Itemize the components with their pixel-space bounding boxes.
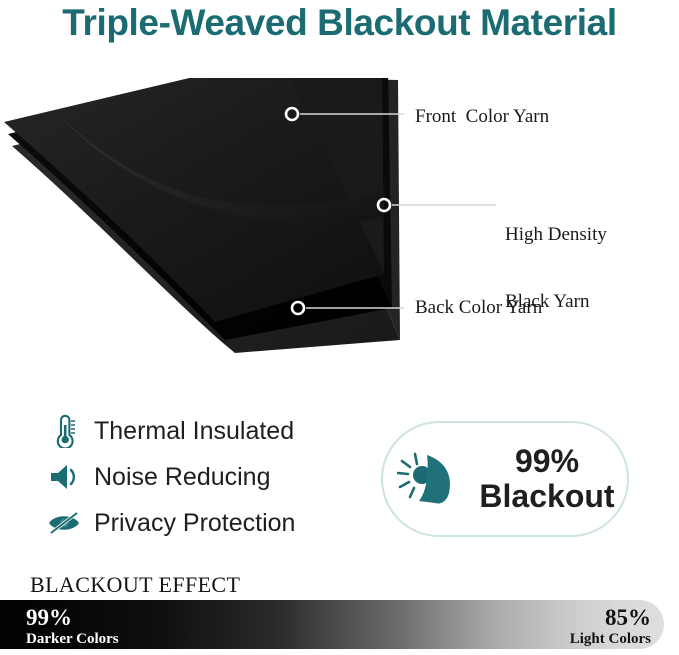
bar-left-percent: 99% [26,606,119,629]
blackout-badge-word: Blackout [479,479,614,514]
bar-right-sub: Light Colors [570,632,651,647]
feature-item-privacy-protection: Privacy Protection [44,500,354,546]
bar-right-percent: 85% [570,606,651,629]
feature-item-noise-reducing: Noise Reducing [44,454,354,500]
blackout-badge: 99% Blackout [381,421,629,537]
callout-label-back: Back Color Yarn [415,297,542,319]
bar-label-darker-colors: 99% Darker Colors [26,606,119,647]
feature-item-thermal-insulated: Thermal Insulated [44,408,354,454]
feature-label-noise-reducing: Noise Reducing [94,463,271,492]
callout-label-front: Front Color Yarn [415,106,549,128]
callout-dot-high-density [378,199,390,211]
callout-dot-back [292,302,304,314]
blackout-badge-percent: 99% [479,444,614,479]
feature-label-thermal-insulated: Thermal Insulated [94,417,294,446]
thermometer-icon [44,411,86,451]
blackout-effect-heading: BLACKOUT EFFECT [30,572,240,598]
bar-left-sub: Darker Colors [26,632,119,647]
feature-list: Thermal Insulated Noise Reducing Privacy… [44,408,354,546]
sun-behind-curtain-icon [395,447,469,511]
eye-off-icon [44,503,86,543]
callout-label-high-density-line1: High Density [505,224,607,246]
blackout-badge-text: 99% Blackout [479,444,614,513]
feature-label-privacy-protection: Privacy Protection [94,509,295,538]
callout-dot-front [286,108,298,120]
bar-label-light-colors: 85% Light Colors [570,606,651,647]
page-title: Triple-Weaved Blackout Material [0,2,679,44]
speaker-icon [44,457,86,497]
